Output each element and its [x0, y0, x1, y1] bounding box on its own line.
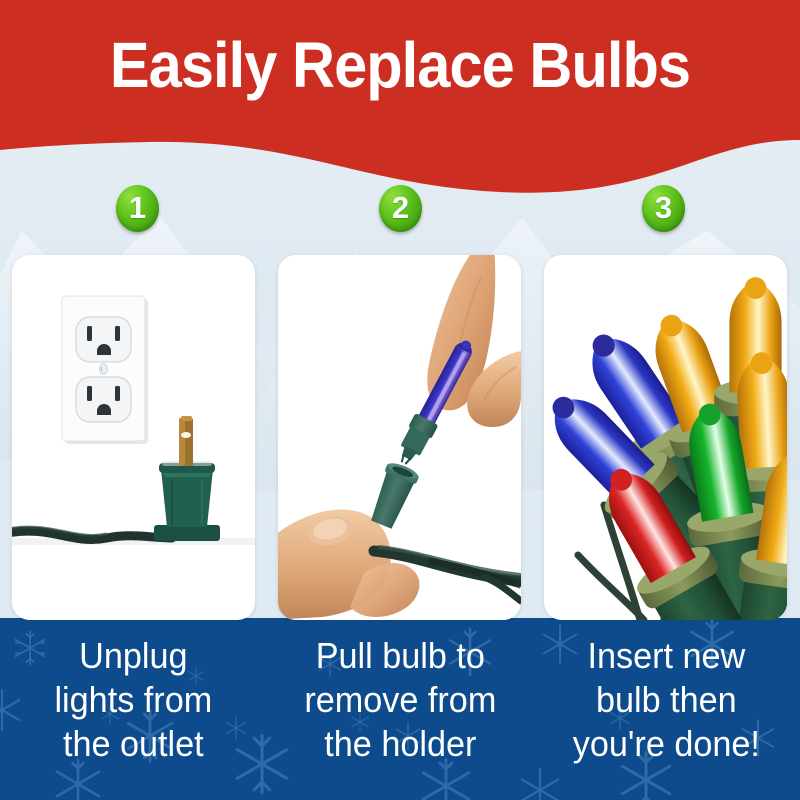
- step-badge-2: 2: [379, 185, 422, 232]
- step-caption-2: Pull bulb to remove from the holder: [273, 618, 526, 800]
- multicolor-mini-bulb-cluster-image: [544, 255, 787, 620]
- caption-group: Unplug lights from the outlet Pull bulb …: [0, 618, 800, 800]
- wall-outlet-with-green-plug-image: [12, 255, 255, 620]
- step-badge-group: 1 2 3: [0, 0, 800, 260]
- step-badge-2-number: 2: [392, 192, 409, 223]
- step-badge-1: 1: [116, 185, 159, 232]
- step-caption-3: Insert new bulb then you're done!: [540, 618, 793, 800]
- hands-pulling-bulb-from-holder-image: [278, 255, 521, 620]
- step-card-3: [544, 255, 787, 620]
- step-card-2: [278, 255, 521, 620]
- step-badge-3-number: 3: [655, 192, 672, 223]
- step-card-1: [12, 255, 255, 620]
- step-badge-1-number: 1: [129, 192, 146, 223]
- infographic-root: Easily Replace Bulbs 1 2 3: [0, 0, 800, 800]
- step-caption-1: Unplug lights from the outlet: [7, 618, 260, 800]
- step-badge-3: 3: [642, 185, 685, 232]
